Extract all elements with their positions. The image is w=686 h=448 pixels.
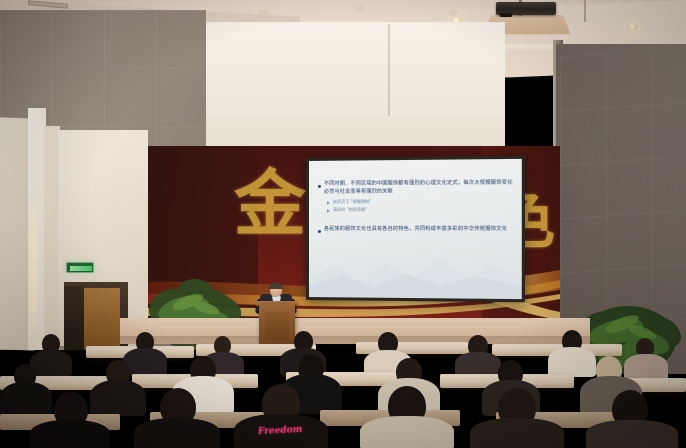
slide-content: 不同时期、不同区域的中国服饰都有强烈的心理文化定式，每次大规模服饰变化必然与社会… [318,180,513,237]
audience-area: Freedom [0,330,686,448]
audience-person-body [548,347,596,377]
projection-screen: 不同时期、不同区域的中国服饰都有强烈的心理文化定式，每次大规模服饰变化必然与社会… [306,156,525,303]
lecture-hall-photo: 金 色 [0,0,686,448]
sub-bullet-arrow-icon [327,201,330,205]
projector-lens-icon [500,13,512,17]
exit-sign-glyph [70,266,92,271]
back-wall-upper [205,22,505,118]
slide-bullet-text: 不同时期、不同区域的中国服饰都有强烈的心理文化定式，每次大规模服饰变化必然与社会… [324,180,513,197]
audience-person-body [90,380,146,416]
ceiling-spotlight-icon [628,24,637,30]
sub-bullet-arrow-icon [327,209,330,213]
ceiling-rod [584,0,586,22]
slide-sub-bullet-text: 赵武灵王 "胡服骑射" [333,199,371,205]
slide-bullet-item: 不同时期、不同区域的中国服饰都有强烈的心理文化定式，每次大规模服饰变化必然与社会… [318,180,513,197]
audience-person-body [30,350,72,376]
projection-screen-surface: 不同时期、不同区域的中国服饰都有强烈的心理文化定式，每次大规模服饰变化必然与社会… [309,159,522,299]
slide-sub-bullet-text: 清初的 "剃发易服" [333,206,367,212]
audience-person-body [470,418,564,448]
bullet-dot-icon [318,230,321,233]
pillar-light-strip [30,196,37,346]
wall-seam [388,24,390,116]
audience-person-body [134,418,220,448]
slide-bullet-text: 各民族的服饰文化也具有各自的特色，共同构成丰富多彩的中华传统服饰文化 [324,226,507,234]
backdrop-gold-character: 金 [234,168,306,240]
audience-person-body [360,416,454,448]
bullet-dot-icon [318,185,321,188]
ceiling-spotlight-icon [449,10,458,16]
slide-background-mountains [309,245,522,299]
slide-spacer [318,213,513,225]
audience-person-body [586,420,678,448]
speaker-hair [269,283,283,289]
slide-bullet-item: 各民族的服饰文化也具有各自的特色，共同构成丰富多彩的中华传统服饰文化 [318,226,513,234]
audience-person-body [624,354,668,380]
audience-person-body [0,382,52,416]
slide-sub-bullet-item: 清初的 "剃发易服" [327,206,513,213]
mountain-graphic-icon [309,245,522,299]
ceiling-spotlight-icon [355,5,364,11]
slide-sub-bullet-item: 赵武灵王 "胡服骑射" [327,199,513,206]
exit-sign-icon [66,262,94,273]
audience-person-body [30,420,110,448]
ceiling-spotlight-icon [259,10,268,16]
